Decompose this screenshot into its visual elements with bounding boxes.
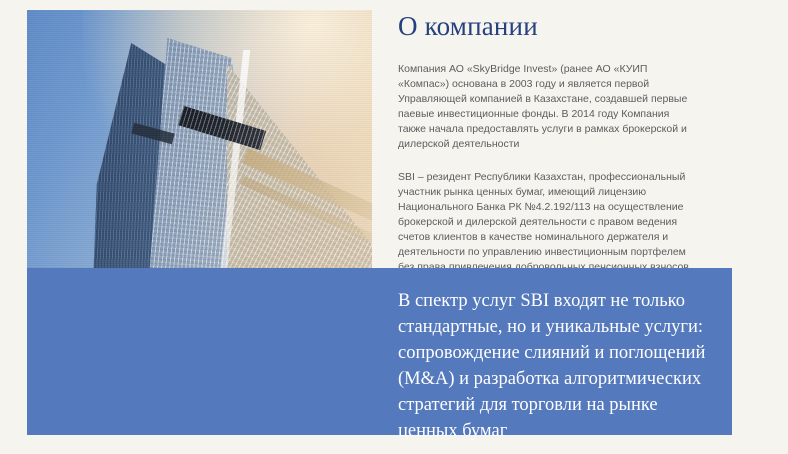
about-paragraph-1: Компания АО «SkyBridge Invest» (ранее АО…: [398, 62, 698, 152]
services-highlight-banner: В спектр услуг SBI входят не только стан…: [27, 268, 732, 435]
page-title: О компании: [398, 10, 698, 42]
banner-text-wrapper: В спектр услуг SBI входят не только стан…: [398, 288, 710, 444]
about-company-page: О компании Компания АО «SkyBridge Invest…: [0, 0, 788, 454]
banner-headline: В спектр услуг SBI входят не только стан…: [398, 288, 710, 444]
